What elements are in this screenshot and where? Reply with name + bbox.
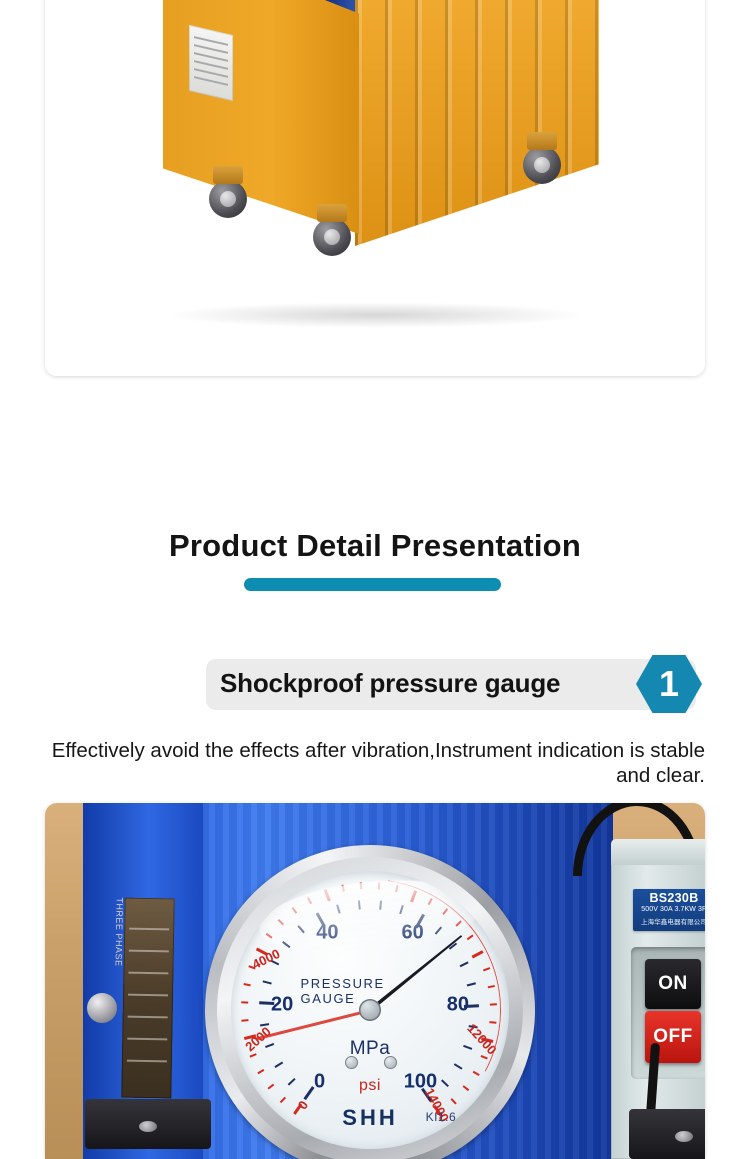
gauge-tick	[490, 1021, 497, 1023]
nameplate-line	[129, 928, 169, 931]
gauge-tick	[467, 935, 474, 940]
gauge-photo-stage: THREE PHASE	[45, 803, 705, 1159]
feature-title-banner: Shockproof pressure gauge	[206, 659, 696, 710]
mounting-foot	[629, 1109, 705, 1159]
gauge-brand: SHH	[342, 1105, 397, 1131]
power-on-button[interactable]: ON	[645, 959, 701, 1009]
power-on-label: ON	[645, 959, 701, 1009]
gauge-needle-hub	[359, 999, 381, 1021]
gauge-tick	[471, 950, 483, 958]
caster-hub	[220, 191, 236, 207]
gauge-tick	[258, 1069, 265, 1074]
feature-description: Effectively avoid the effects after vibr…	[40, 738, 705, 788]
product-photo-pump[interactable]	[45, 0, 705, 376]
nameplate-line	[128, 1016, 168, 1019]
switch-model: BS230B	[633, 891, 705, 905]
caster-hub	[324, 229, 340, 245]
gauge-screw-icon	[345, 1056, 358, 1069]
switch-maker: 上海华鑫电器有限公司	[633, 916, 705, 926]
caster-fork	[213, 166, 243, 184]
gauge-tick	[473, 1071, 480, 1076]
gauge-tick	[488, 985, 495, 988]
gauge-mpa-label: 80	[447, 994, 469, 1017]
gauge-screw-icon	[384, 1056, 397, 1069]
product-photo-gauge[interactable]: THREE PHASE	[45, 803, 705, 1159]
switch-rating: 500V 30A 3.7KW 3P	[633, 906, 705, 913]
nameplate-line	[127, 1038, 167, 1041]
section-heading: Product Detail Presentation	[0, 524, 750, 568]
page-title: Product Detail Presentation	[0, 524, 750, 568]
tank-ribs	[355, 0, 599, 246]
caster-fork	[317, 204, 347, 222]
gauge-unit-psi: psi	[359, 1077, 381, 1095]
nameplate-line	[128, 994, 168, 997]
mounting-hole-icon	[139, 1121, 157, 1132]
heading-underline-rule	[244, 578, 501, 591]
gauge-tick	[483, 967, 490, 971]
gauge-tick	[451, 1098, 457, 1104]
motor-nameplate-text: THREE PHASE	[71, 897, 124, 1098]
mounting-hole-icon	[675, 1131, 693, 1142]
switch-button-recess: ON OFF	[631, 947, 705, 1079]
label-line	[194, 76, 228, 86]
nameplate-line	[128, 972, 168, 975]
pressure-gauge: 0 20 40 60 80 100 0 2000 4000 12000 1400…	[205, 845, 535, 1159]
switch-box-top	[611, 839, 705, 865]
gauge-mpa-label: 20	[271, 994, 293, 1017]
caster-wheel	[209, 180, 247, 218]
caster-wheel	[313, 218, 351, 256]
gauge-tick	[250, 1054, 257, 1058]
gauge-tick	[268, 1084, 274, 1090]
nameplate-line	[129, 950, 169, 953]
gauge-tick	[242, 1020, 249, 1022]
motor-nameplate: THREE PHASE	[121, 898, 174, 1099]
caster-hub	[534, 157, 550, 173]
switch-box-label: BS230B 500V 30A 3.7KW 3P 上海华鑫电器有限公司	[633, 889, 705, 931]
gauge-tick	[463, 1085, 469, 1091]
gauge-mpa-label: 0	[314, 1071, 325, 1094]
gauge-accuracy-class: KI1.6	[426, 1110, 457, 1124]
product-detail-page: Product Detail Presentation Shockproof p…	[0, 0, 750, 1159]
gauge-tick	[241, 1002, 248, 1004]
pump-photo-stage	[45, 0, 705, 376]
feature-title: Shockproof pressure gauge	[220, 668, 560, 699]
caster-wheel	[523, 146, 561, 184]
gauge-face: 0 20 40 60 80 100 0 2000 4000 12000 1400…	[231, 871, 509, 1149]
gauge-tick	[244, 983, 251, 986]
gauge-tick	[280, 1097, 286, 1103]
tank-spec-label	[189, 25, 233, 101]
oil-tank-side-panel	[355, 0, 599, 246]
nameplate-line	[127, 1060, 167, 1063]
mounting-foot	[85, 1099, 211, 1149]
gauge-unit-mpa: MPa	[350, 1038, 391, 1060]
gauge-tick	[490, 1003, 497, 1005]
caster-fork	[527, 132, 557, 150]
